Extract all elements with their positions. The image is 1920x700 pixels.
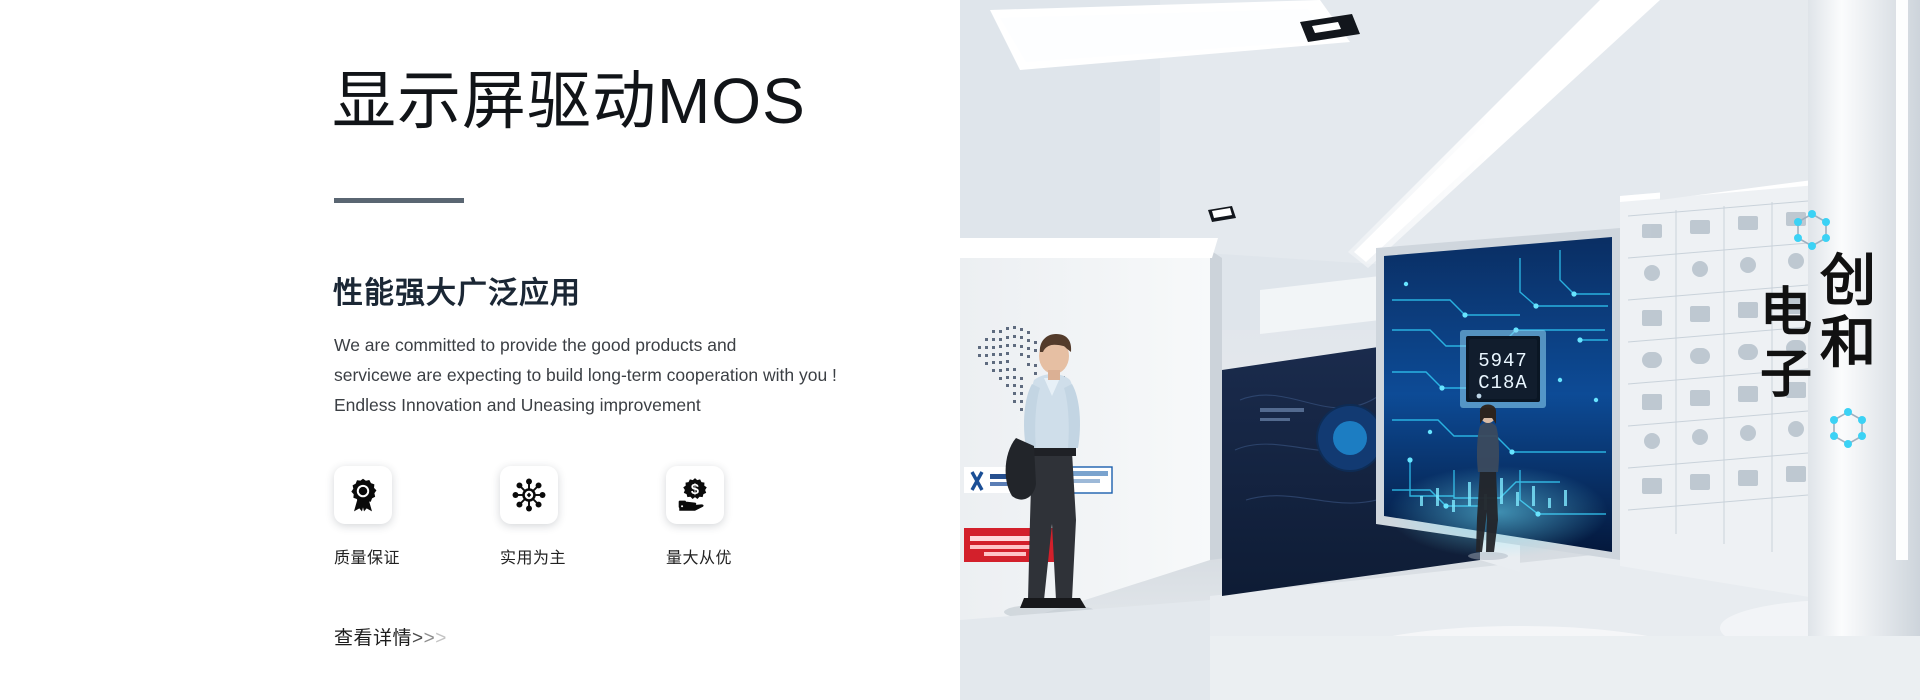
hand-money-icon: $ [677, 477, 713, 513]
showroom-illustration: 5947 C18A [960, 0, 1920, 700]
hero-banner: 显示屏驱动MOS 性能强大广泛应用 We are committed to pr… [0, 0, 1920, 700]
paragraph-line-3: Endless Innovation and Uneasing improvem… [334, 390, 914, 420]
subtitle: 性能强大广泛应用 [333, 268, 581, 312]
chevron-right-icon-1: > [412, 628, 424, 649]
wall-sign-char-2: 和 [1820, 311, 1876, 374]
view-details-link[interactable]: 查看详情>>> [334, 623, 447, 650]
gear-network-icon [511, 477, 547, 513]
paragraph-line-2: servicewe are expecting to build long-te… [334, 360, 914, 390]
wall-sign-char-1: 创 [1820, 249, 1876, 312]
award-ribbon-icon [345, 477, 381, 513]
feature-icon-tile [334, 466, 392, 524]
chevron-right-icon-3: > [435, 628, 447, 649]
description-paragraph: We are committed to provide the good pro… [334, 330, 914, 420]
page-title: 显示屏驱动MOS [332, 66, 806, 136]
feature-label: 质量保证 [334, 544, 400, 568]
feature-icon-tile: $ [666, 466, 724, 524]
svg-text:$: $ [691, 482, 699, 498]
chip-code-line1: 5947 [1478, 350, 1528, 372]
text-panel: 显示屏驱动MOS 性能强大广泛应用 We are committed to pr… [0, 0, 960, 700]
title-divider [334, 198, 464, 203]
feature-item-bulk-price[interactable]: $ 量大从优 [666, 466, 744, 568]
feature-item-quality[interactable]: 质量保证 [334, 466, 412, 568]
feature-icon-tile [500, 466, 558, 524]
view-details-label: 查看详情 [334, 628, 412, 649]
feature-item-practical[interactable]: 实用为主 [500, 466, 578, 568]
wall-sign-char-4: 子 [1760, 346, 1812, 404]
feature-list: 质量保证 [334, 466, 744, 568]
chevron-right-icon-2: > [424, 628, 436, 649]
feature-label: 量大从优 [666, 544, 732, 568]
feature-label: 实用为主 [500, 544, 566, 568]
wall-sign-char-3: 电 [1760, 284, 1812, 342]
showroom-photo: 5947 C18A [960, 0, 1920, 700]
chip-graphic: 5947 C18A [1460, 330, 1546, 408]
chip-code-line2: C18A [1478, 372, 1528, 394]
paragraph-line-1: We are committed to provide the good pro… [334, 330, 914, 360]
